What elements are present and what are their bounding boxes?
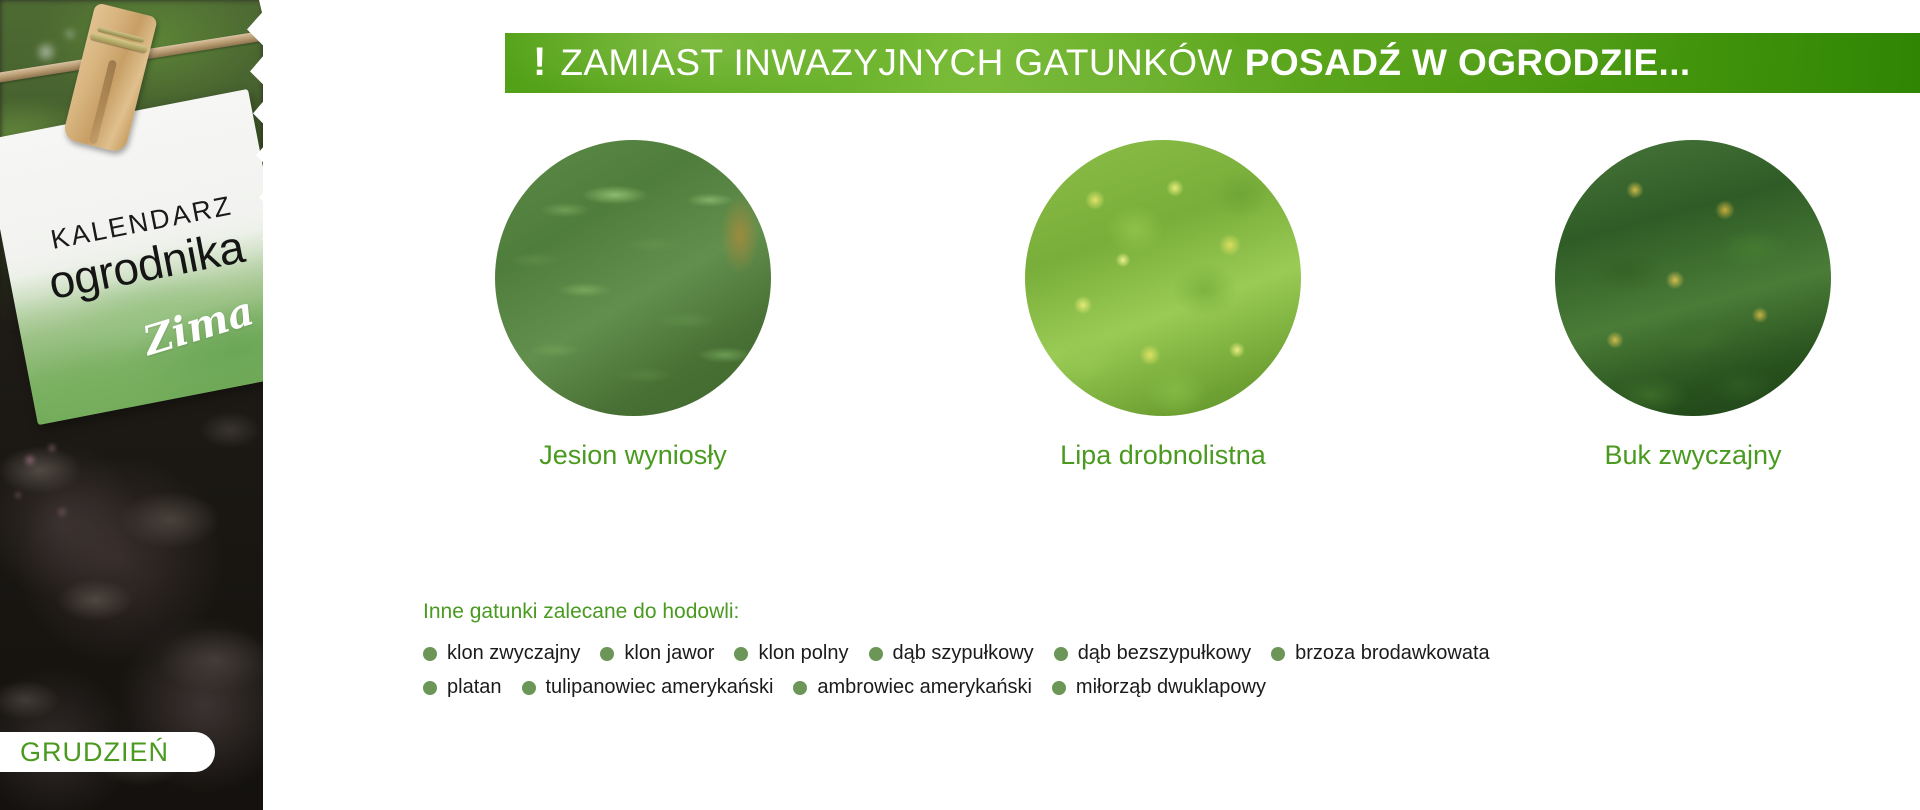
calendar-card: KALENDARZ ogrodnika Zima (0, 89, 263, 425)
pink-bokeh-accent (0, 400, 160, 600)
list-item-label: brzoza brodawkowata (1295, 642, 1490, 665)
list-item: miłorząb dwuklapowy (1052, 676, 1266, 699)
ash-leaves-image (495, 140, 771, 416)
main-content: Jesion wyniosły Lipa drobnolistna Buk zw… (383, 0, 1920, 810)
species-card-3: Buk zwyczajny (1483, 140, 1903, 540)
species-caption-2: Lipa drobnolistna (1060, 440, 1266, 471)
other-species-row-1: klon zwyczajny klon jawor klon polny dąb… (423, 642, 1903, 665)
species-caption-1: Jesion wyniosły (539, 440, 727, 471)
species-card-1: Jesion wyniosły (423, 140, 843, 540)
other-species-row-2: platan tulipanowiec amerykański ambrowie… (423, 676, 1903, 699)
list-item-label: platan (447, 676, 502, 699)
white-background-panel (263, 0, 383, 810)
bullet-dot-icon (522, 681, 536, 695)
left-panel: KALENDARZ ogrodnika Zima GRUDZIEŃ (0, 0, 263, 810)
list-item: dąb szypułkowy (869, 642, 1034, 665)
bullet-dot-icon (1052, 681, 1066, 695)
bullet-dot-icon (423, 681, 437, 695)
list-item: dąb bezszypułkowy (1054, 642, 1251, 665)
list-item: klon zwyczajny (423, 642, 580, 665)
list-item-label: tulipanowiec amerykański (546, 676, 774, 699)
list-item: brzoza brodawkowata (1271, 642, 1490, 665)
other-species-section: Inne gatunki zalecane do hodowli: klon z… (423, 600, 1903, 710)
month-badge: GRUDZIEŃ (0, 732, 215, 772)
month-label: GRUDZIEŃ (20, 737, 169, 768)
list-item-label: dąb bezszypułkowy (1078, 642, 1251, 665)
bullet-dot-icon (869, 647, 883, 661)
bullet-dot-icon (600, 647, 614, 661)
list-item: platan (423, 676, 502, 699)
linden-leaves-image (1025, 140, 1301, 416)
beech-leaves-image (1555, 140, 1831, 416)
species-gallery: Jesion wyniosły Lipa drobnolistna Buk zw… (423, 140, 1903, 540)
bullet-dot-icon (1271, 647, 1285, 661)
list-item: klon jawor (600, 642, 714, 665)
list-item-label: klon zwyczajny (447, 642, 580, 665)
bullet-dot-icon (423, 647, 437, 661)
species-card-2: Lipa drobnolistna (953, 140, 1373, 540)
list-item: klon polny (734, 642, 848, 665)
species-caption-3: Buk zwyczajny (1604, 440, 1781, 471)
bullet-dot-icon (793, 681, 807, 695)
other-species-title: Inne gatunki zalecane do hodowli: (423, 600, 1903, 624)
list-item: ambrowiec amerykański (793, 676, 1032, 699)
beech-leaves-photo (1555, 140, 1831, 416)
list-item-label: klon jawor (624, 642, 714, 665)
linden-leaves-photo (1025, 140, 1301, 416)
list-item-label: ambrowiec amerykański (817, 676, 1032, 699)
list-item: tulipanowiec amerykański (522, 676, 774, 699)
ash-leaves-photo (495, 140, 771, 416)
list-item-label: klon polny (758, 642, 848, 665)
bullet-dot-icon (1054, 647, 1068, 661)
bullet-dot-icon (734, 647, 748, 661)
list-item-label: miłorząb dwuklapowy (1076, 676, 1266, 699)
list-item-label: dąb szypułkowy (893, 642, 1034, 665)
